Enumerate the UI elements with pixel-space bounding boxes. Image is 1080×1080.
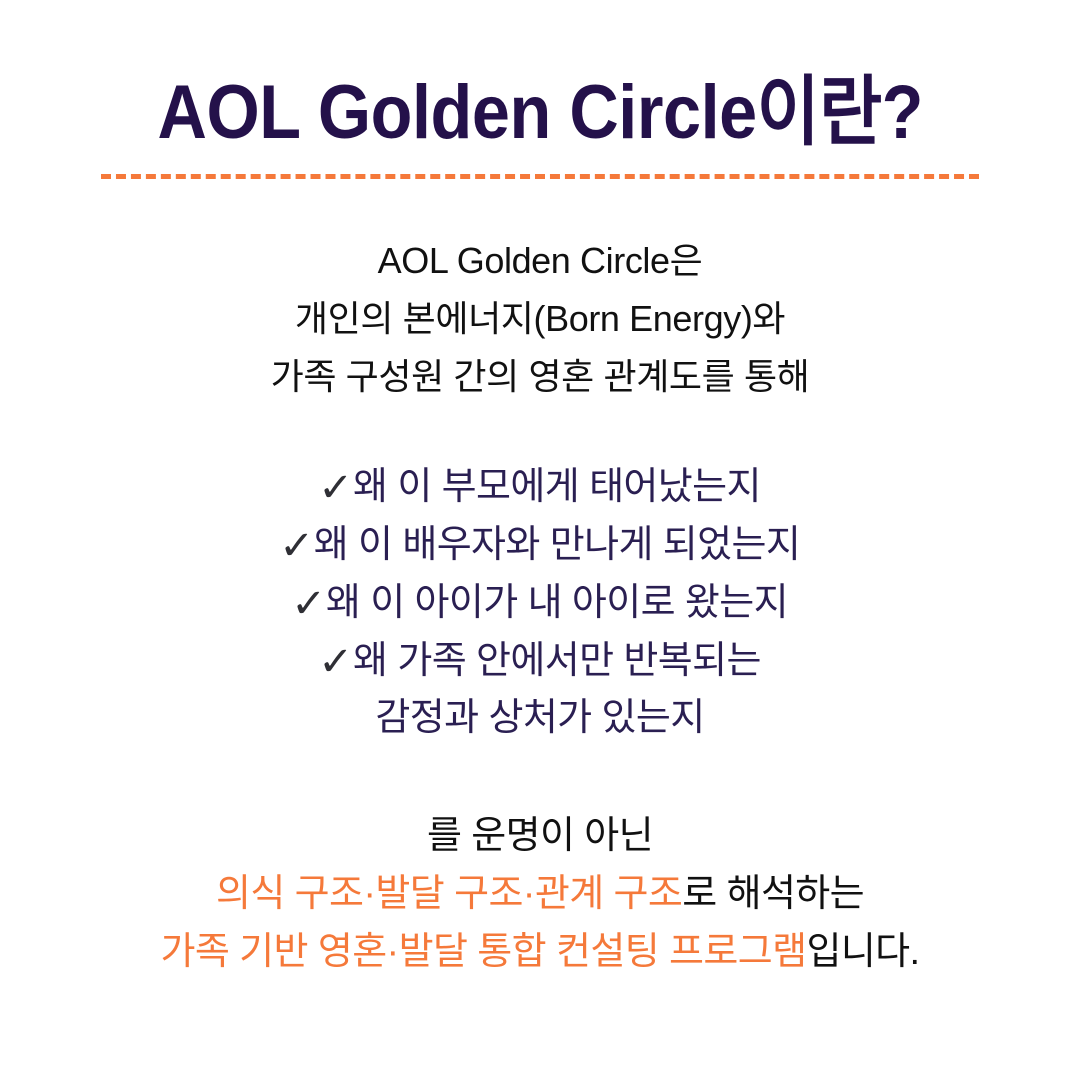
page-title: AOL Golden Circle이란?: [157, 74, 922, 152]
question-checklist: ✓왜 이 부모에게 태어났는지 ✓왜 이 배우자와 만나게 되었는지 ✓왜 이 …: [280, 458, 800, 747]
closing-line-3: 가족 기반 영혼·발달 통합 컨설팅 프로그램입니다.: [160, 923, 919, 981]
list-item: ✓왜 이 부모에게 태어났는지: [280, 458, 800, 516]
list-item-continuation: 감정과 상처가 있는지: [280, 690, 800, 747]
slide-card: AOL Golden Circle이란? AOL Golden Circle은 …: [0, 0, 1080, 1080]
closing-line-2: 의식 구조·발달 구조·관계 구조로 해석하는: [160, 865, 919, 923]
title-divider: [101, 174, 979, 179]
closing-line-1: 를 운명이 아닌: [160, 807, 919, 865]
list-item-label: 왜 이 부모에게 태어났는지: [353, 466, 761, 508]
list-item: ✓왜 이 배우자와 만나게 되었는지: [280, 516, 800, 574]
list-item-label: 왜 이 아이가 내 아이로 왔는지: [326, 582, 788, 624]
closing-block: 를 운명이 아닌 의식 구조·발달 구조·관계 구조로 해석하는 가족 기반 영…: [160, 807, 919, 981]
intro-line-1: AOL Golden Circle은: [271, 232, 810, 290]
list-item: ✓왜 이 아이가 내 아이로 왔는지: [280, 574, 800, 632]
intro-line-3: 가족 구성원 간의 영혼 관계도를 통해: [271, 348, 810, 406]
check-icon: ✓: [279, 518, 314, 575]
intro-paragraph: AOL Golden Circle은 개인의 본에너지(Born Energy)…: [271, 232, 810, 406]
closing-highlight-2: 가족 기반 영혼·발달 통합 컨설팅 프로그램: [160, 931, 806, 973]
intro-line-2: 개인의 본에너지(Born Energy)와: [271, 290, 810, 348]
check-icon: ✓: [318, 634, 353, 691]
closing-highlight-1: 의식 구조·발달 구조·관계 구조: [216, 873, 682, 915]
closing-tail-1: 로 해석하는: [682, 873, 864, 915]
title-block: AOL Golden Circle이란?: [0, 74, 1080, 179]
check-icon: ✓: [291, 576, 326, 633]
list-item-label: 왜 이 배우자와 만나게 되었는지: [314, 524, 801, 566]
check-icon: ✓: [318, 460, 353, 517]
list-item-label: 왜 가족 안에서만 반복되는: [353, 640, 761, 682]
list-item: ✓왜 가족 안에서만 반복되는: [280, 632, 800, 690]
closing-tail-2: 입니다.: [806, 931, 919, 973]
